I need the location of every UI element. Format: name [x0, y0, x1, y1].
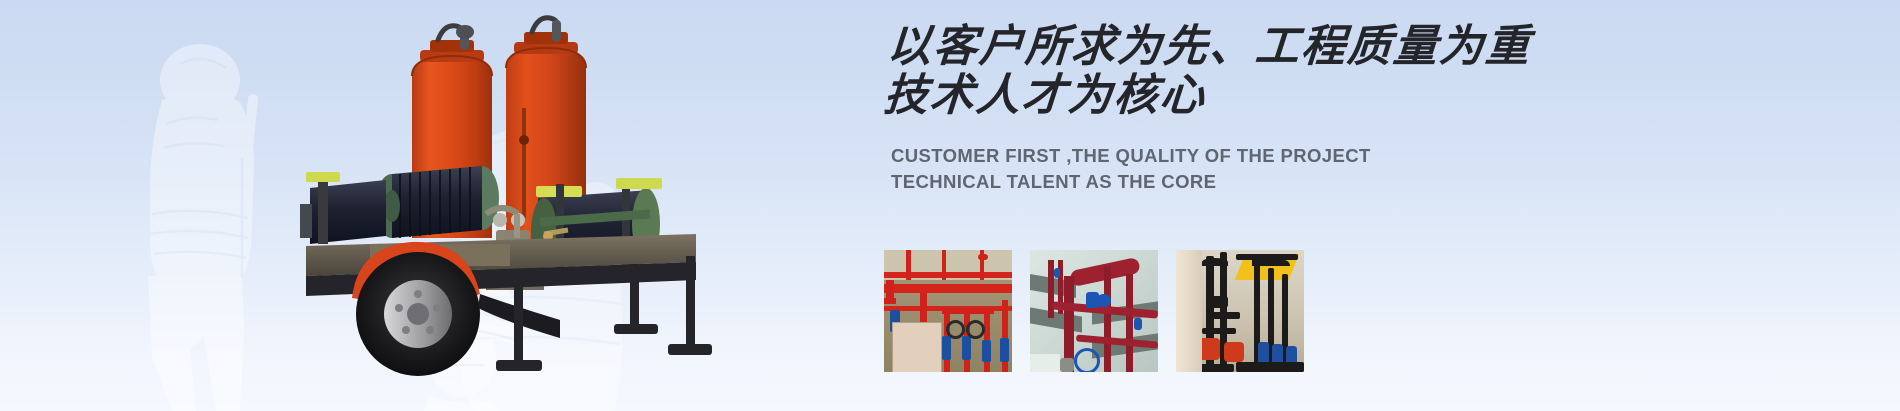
headline-line-2: 技术人才为核心 — [882, 71, 1525, 120]
thumbnail-stairwell-pipes[interactable] — [1030, 250, 1158, 372]
product-photo-fire-trailer — [300, 8, 720, 398]
hero-banner: 以客户所求为先、工程质量为重 技术人才为核心 CUSTOMER FIRST ,T… — [0, 0, 1900, 411]
page-title: 以客户所求为先、工程质量为重 技术人才为核心 — [882, 22, 1529, 121]
subtitle: CUSTOMER FIRST ,THE QUALITY OF THE PROJE… — [891, 143, 1529, 196]
thumbnail-strip — [884, 250, 1304, 372]
copy-block: 以客户所求为先、工程质量为重 技术人才为核心 CUSTOMER FIRST ,T… — [889, 22, 1529, 195]
subtitle-line-2: TECHNICAL TALENT AS THE CORE — [891, 169, 1529, 195]
subtitle-line-1: CUSTOMER FIRST ,THE QUALITY OF THE PROJE… — [891, 143, 1529, 169]
thumbnail-boiler-room[interactable] — [1176, 250, 1304, 372]
headline-line-1: 以客户所求为先、工程质量为重 — [886, 22, 1529, 71]
firefighter-left-watermark — [92, 28, 292, 411]
thumbnail-sprinkler-riser-room[interactable] — [884, 250, 1012, 372]
